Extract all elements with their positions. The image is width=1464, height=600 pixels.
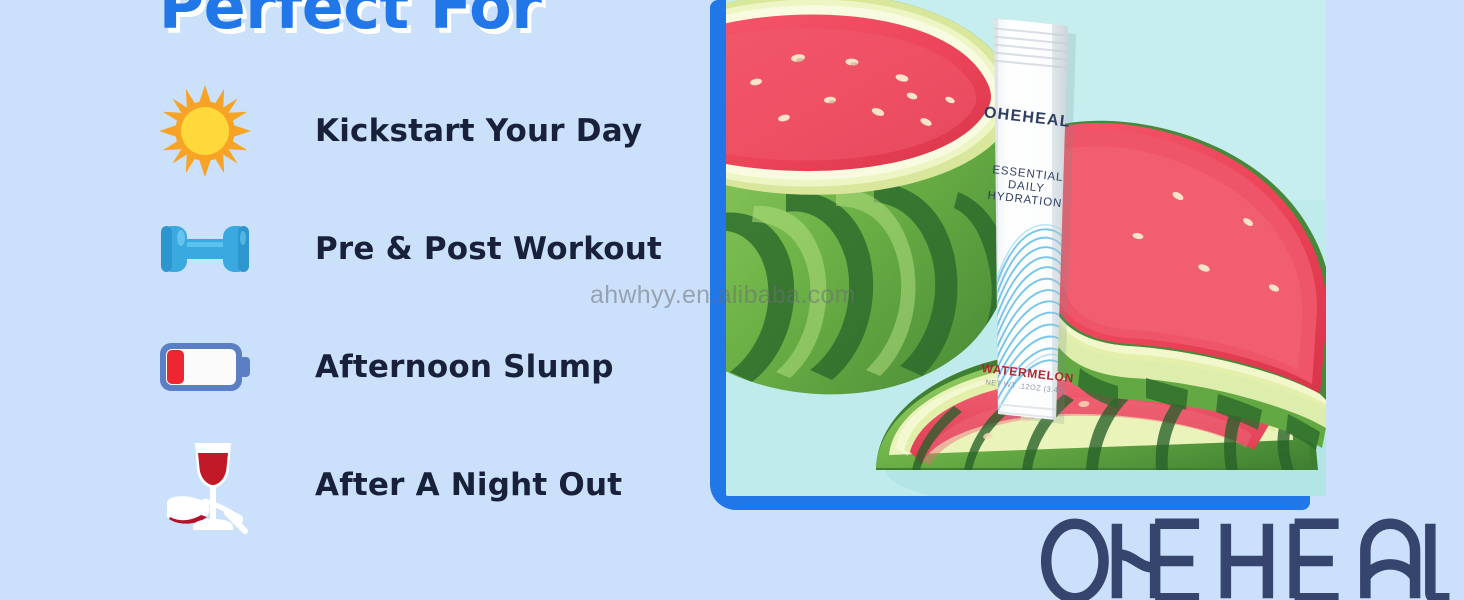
dumbbell-icon [150,194,260,304]
page-title: Perfect For [0,0,700,43]
watermelon-product-illustration: OHEHEAL ESSENTIAL DAILY HYDRATION WATERM… [726,0,1326,496]
list-item: After A Night Out [150,426,690,544]
list-item-label: Afternoon Slump [315,349,614,385]
watermark: ahwhyy.en.alibaba.com [590,281,856,310]
oheheal-logo-mark [1032,518,1456,600]
list-item-label: Kickstart Your Day [315,113,642,149]
product-photo: OHEHEAL ESSENTIAL DAILY HYDRATION WATERM… [726,0,1326,496]
wine-glasses-icon [150,430,260,540]
list-item: Kickstart Your Day [150,72,690,190]
sun-icon [150,76,260,186]
brand-logo [1032,518,1456,600]
low-battery-icon [150,312,260,422]
product-photo-panel: OHEHEAL ESSENTIAL DAILY HYDRATION WATERM… [710,0,1326,512]
list-item-label: Pre & Post Workout [315,231,662,267]
list-item: Afternoon Slump [150,308,690,426]
list-item-label: After A Night Out [315,467,622,503]
